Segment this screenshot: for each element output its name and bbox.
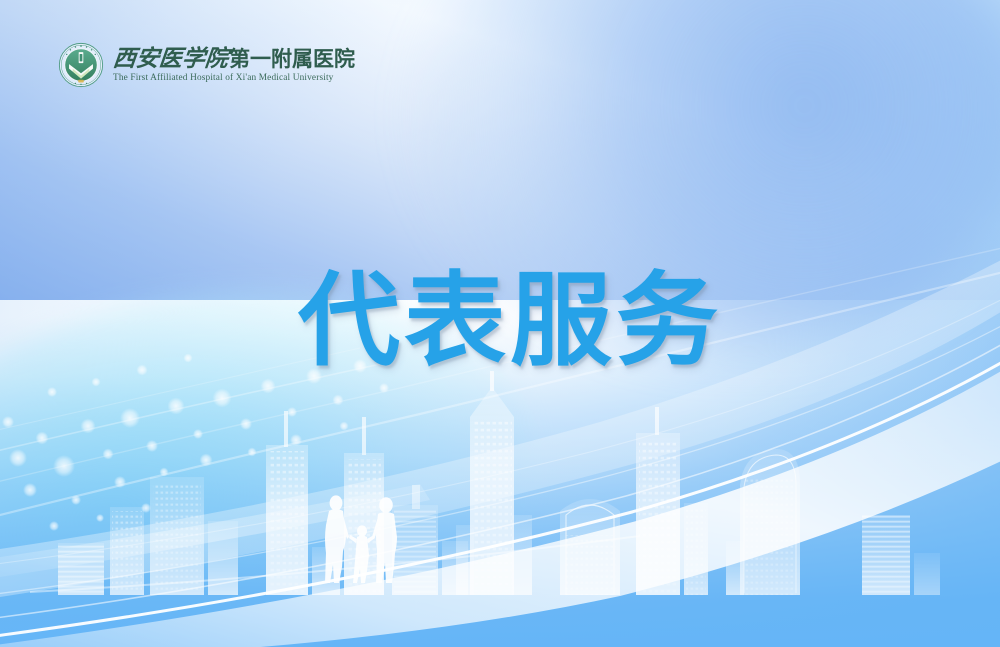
hospital-name-cn-standard: 第一附属医院: [229, 49, 355, 70]
hospital-emblem-icon: [58, 42, 104, 88]
hospital-name-en: The First Affiliated Hospital of Xi'an M…: [113, 74, 355, 83]
hospital-name-cn: 西安医学院 第一附属医院: [113, 47, 355, 70]
presentation-slide: 西安医学院 第一附属医院 The First Affiliated Hospit…: [0, 0, 1000, 647]
hospital-logo-text: 西安医学院 第一附属医院 The First Affiliated Hospit…: [113, 47, 355, 83]
hospital-name-cn-script: 西安医学院: [112, 47, 229, 70]
slide-title: 代表服务: [298, 268, 722, 376]
hospital-logo: 西安医学院 第一附属医院 The First Affiliated Hospit…: [58, 42, 355, 88]
